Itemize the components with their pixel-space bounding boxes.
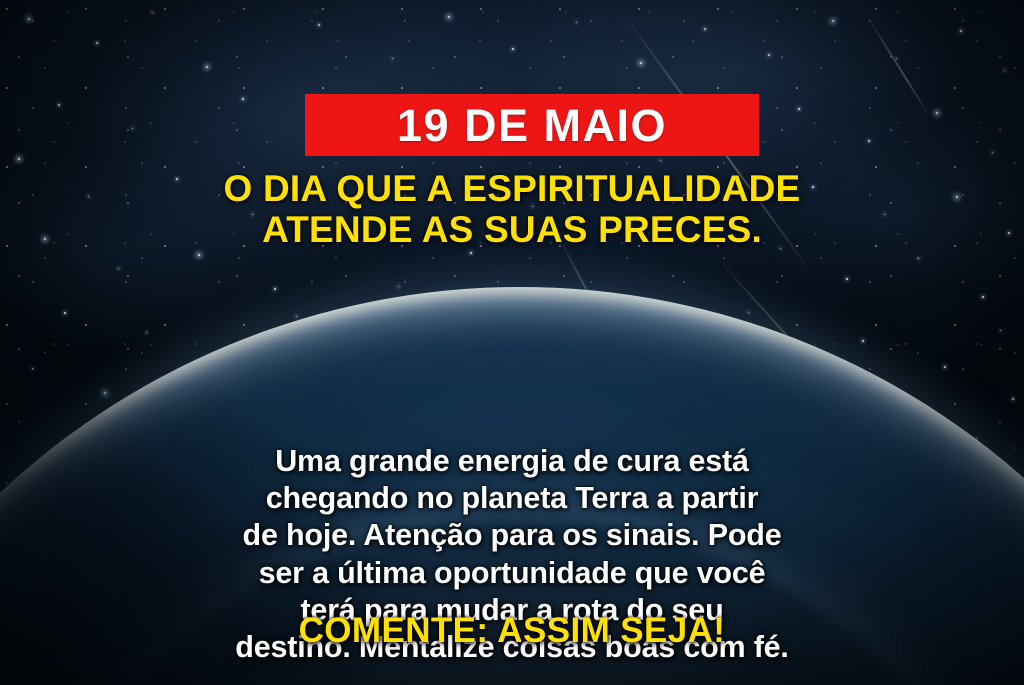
headline-line-2: ATENDE AS SUAS PRECES.: [42, 209, 982, 250]
poster-root: 19 DE MAIO O DIA QUE A ESPIRITUALIDADE A…: [0, 0, 1024, 685]
date-banner: 19 DE MAIO: [305, 94, 759, 156]
body-line-4: ser a última oportunidade que você: [46, 555, 978, 592]
body-line-1: Uma grande energia de cura está: [46, 443, 978, 480]
body-line-2: chegando no planeta Terra a partir: [46, 480, 978, 517]
poster-content: 19 DE MAIO O DIA QUE A ESPIRITUALIDADE A…: [0, 0, 1024, 685]
body-line-3: de hoje. Atenção para os sinais. Pode: [46, 517, 978, 554]
headline-line-1: O DIA QUE A ESPIRITUALIDADE: [42, 168, 982, 209]
headline: O DIA QUE A ESPIRITUALIDADE ATENDE AS SU…: [0, 168, 1024, 251]
call-to-action: COMENTE: ASSIM SEJA!: [0, 613, 1024, 648]
cta-text: COMENTE: ASSIM SEJA!: [299, 611, 726, 650]
date-banner-text: 19 DE MAIO: [397, 103, 667, 148]
